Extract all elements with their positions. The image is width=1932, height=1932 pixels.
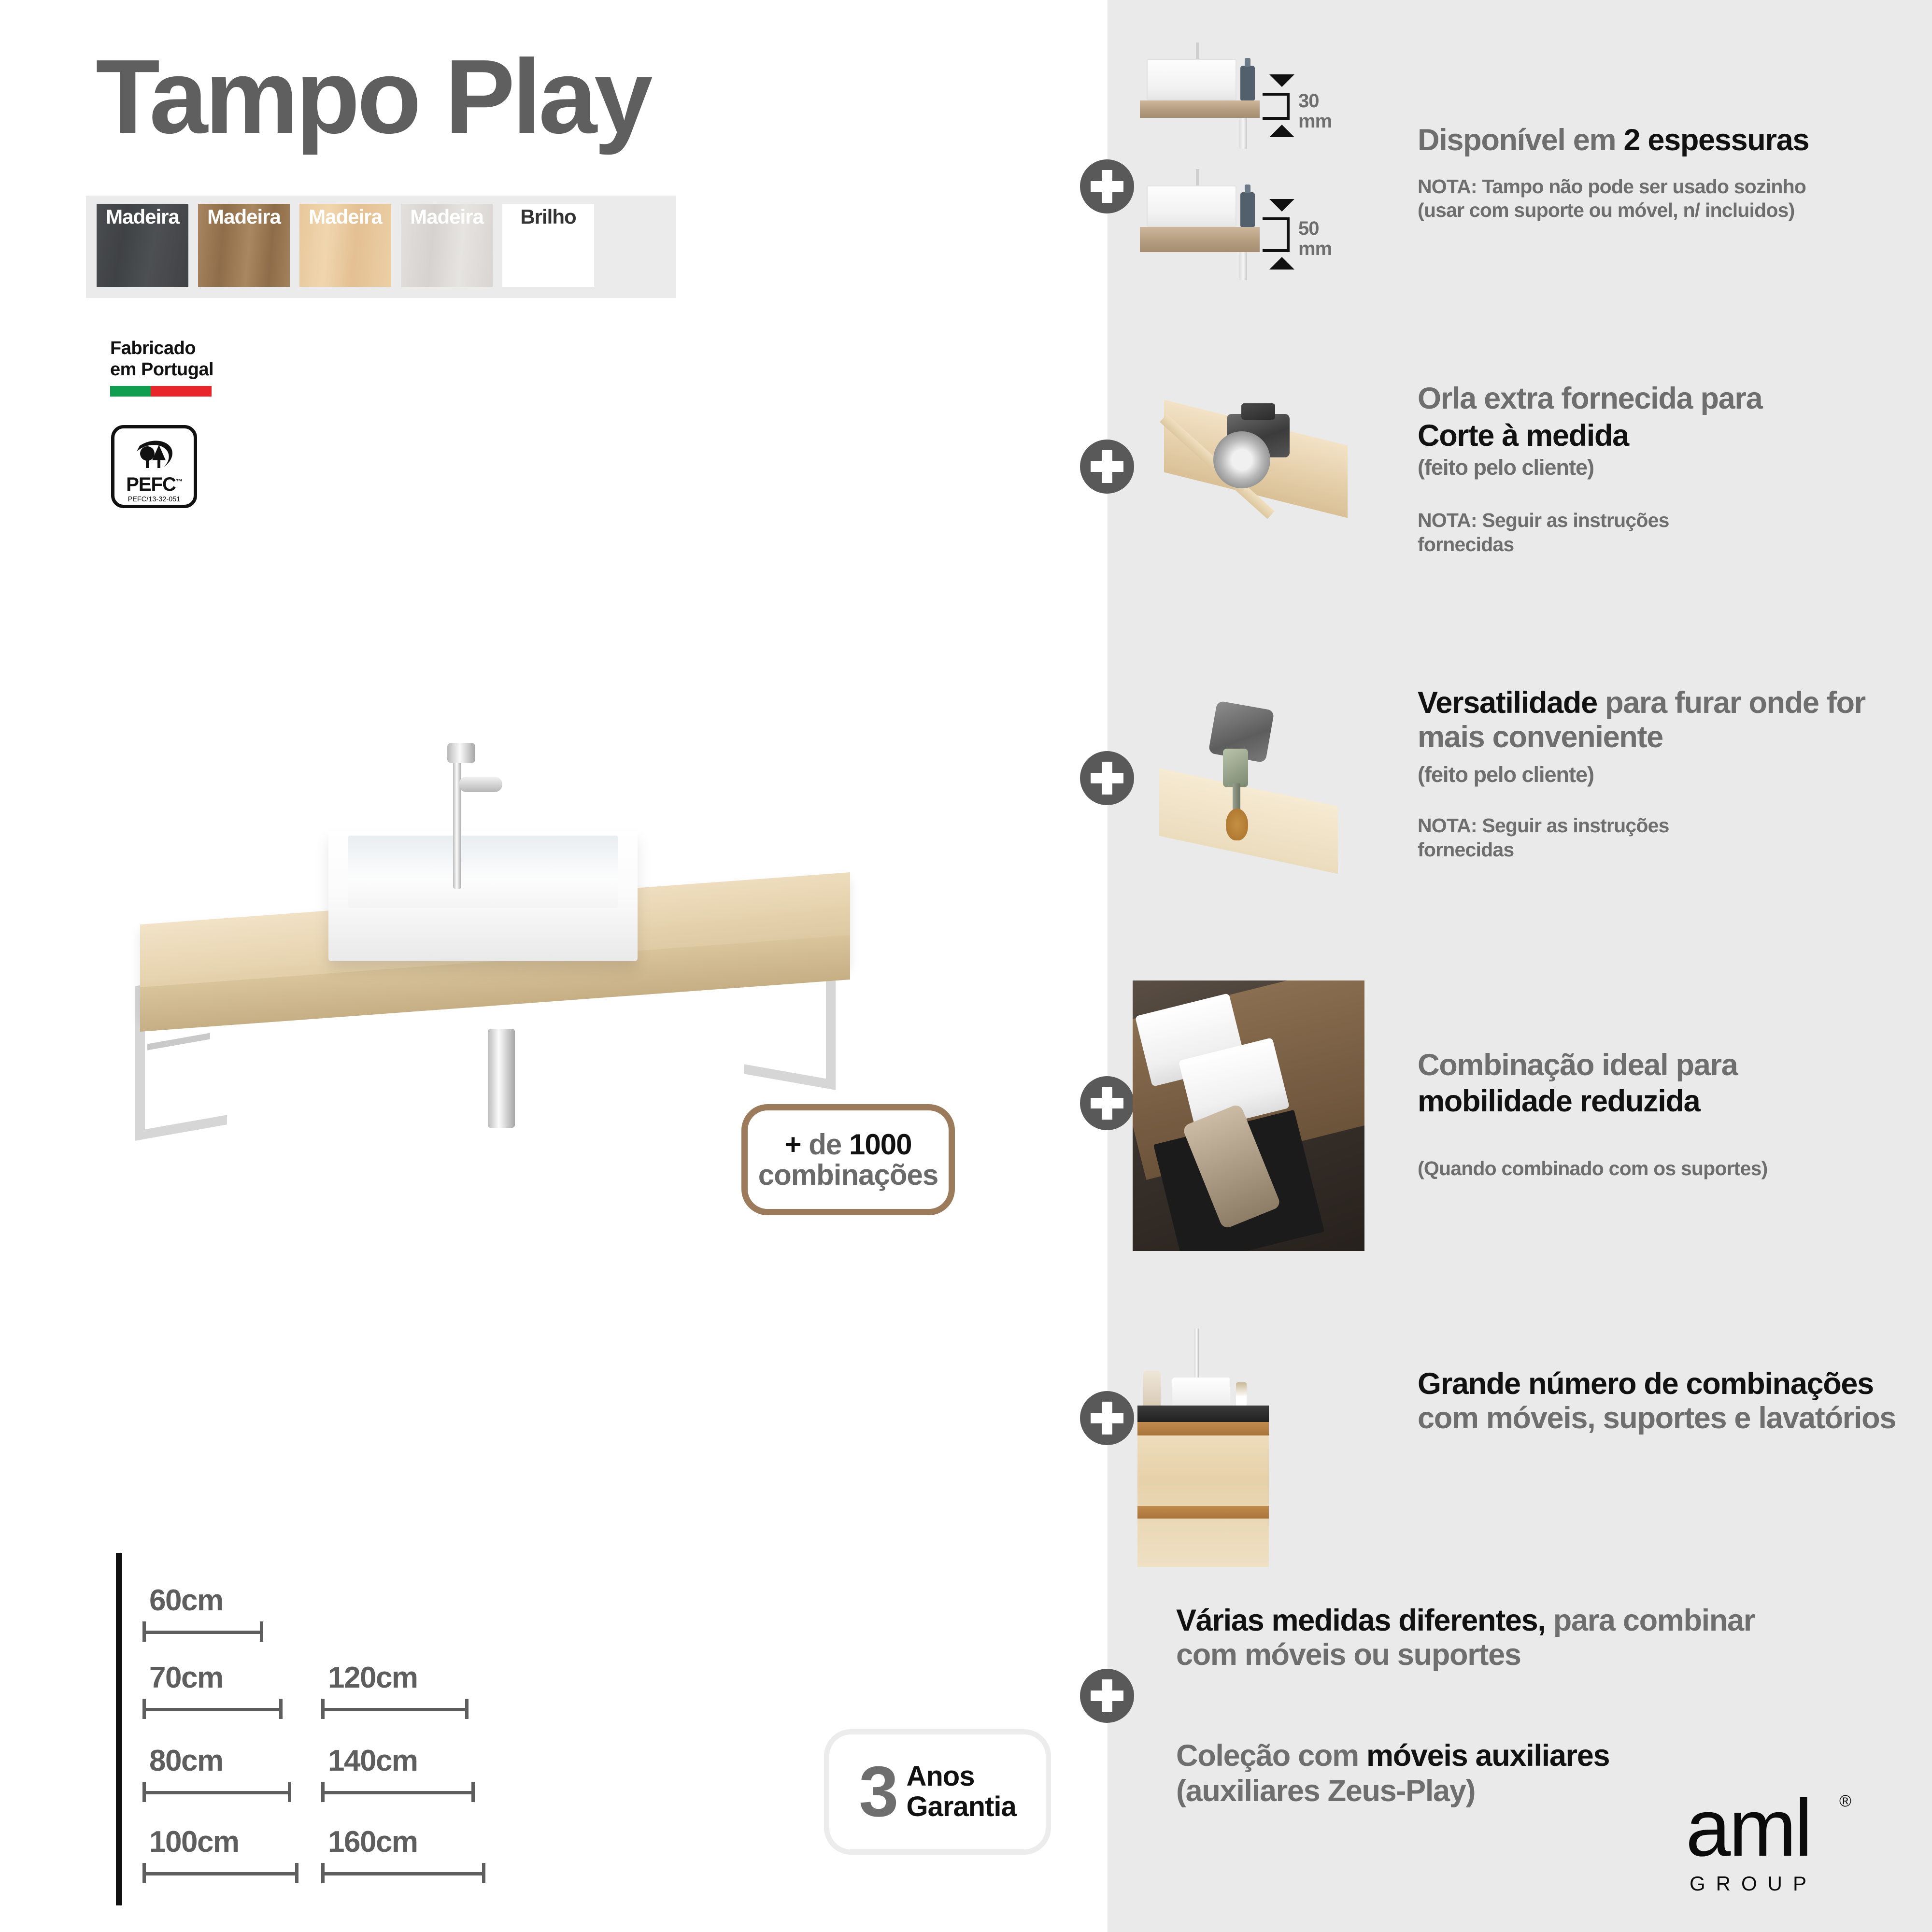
thickness-50mm-dimension: 50 mm [1263,199,1354,276]
feature-heading-bold: Grande número de combinações [1418,1367,1874,1401]
tap-spout [459,777,502,792]
dimension-bar-icon [321,1782,475,1802]
feature-thicknesses-text: Disponível em 2 espessuras NOTA: Tampo n… [1418,123,1905,222]
feature-thicknesses-image: 30 mm 50 mm [1140,39,1410,295]
feature-drilling-image [1150,691,1381,894]
dimension-bar-icon [142,1863,298,1883]
feature-cut-to-size-image [1150,384,1381,587]
plus-icon-drilling [1080,751,1134,805]
feature-combinations-text: Grande número de combinações com móveis,… [1418,1367,1915,1435]
guarantee-text: Anos Garantia [906,1762,1016,1822]
feature-heading-bold: Várias medidas diferentes, [1176,1604,1546,1637]
guarantee-line2: Garantia [906,1792,1016,1822]
thickness-30mm-illustration: 30 mm [1140,43,1299,149]
finish-swatch-light-oak[interactable]: Madeira [299,204,391,287]
finish-swatch-grey-wood[interactable]: Madeira [401,204,493,287]
dimension-label: 60cm [142,1586,263,1616]
drill-chuck [1223,749,1248,787]
pefc-tree-icon [129,433,179,476]
feature-heading: Disponível em 2 espessuras [1418,123,1905,157]
feature-heading: Várias medidas diferentes, para combinar… [1176,1604,1756,1672]
made-in-line1: Fabricado [110,338,265,359]
pefc-certification-badge: PEFC™ PEFC/13-32-051 [111,425,197,508]
arrow-down-icon [1269,74,1294,87]
portugal-flag-icon [110,386,212,397]
combinations-prefix: de [809,1128,841,1161]
dimension-label: 120cm [321,1663,469,1693]
registered-trademark-icon: ® [1839,1792,1851,1811]
dimensions-vertical-rule [116,1553,122,1905]
pefc-code: PEFC/13-32-051 [128,496,181,503]
feature-heading-bold: Corte à medida [1418,419,1629,453]
feature-reduced-mobility-image [1133,980,1364,1251]
pefc-wordmark: PEFC™ [126,475,182,494]
thickness-value: 30 [1298,92,1319,110]
feature-heading: Versatilidade para furar onde for mais c… [1418,686,1910,754]
feature-heading-plain: Coleção com [1176,1739,1366,1773]
arrow-up-icon [1269,257,1294,270]
plus-icon-thicknesses [1080,159,1134,213]
combinations-badge: + de 1000 combinações [741,1104,955,1215]
finish-swatch-medium-wood[interactable]: Madeira [198,204,290,287]
feature-heading-bold: móveis auxiliares [1366,1739,1609,1773]
pefc-trademark-icon: ™ [176,478,182,485]
thumb-basin [1147,59,1236,100]
tap-handle [447,743,475,763]
tap-column [453,749,461,889]
thumb-leg [1239,252,1247,280]
dimension-label: 140cm [321,1746,475,1776]
aml-group-logo: aml ® GROUP [1686,1787,1889,1893]
saw-blade-icon [1213,431,1270,488]
page-title: Tampo Play [96,44,650,150]
dimension-bar-icon [142,1699,283,1719]
dimension-label: 160cm [321,1827,485,1857]
feature-heading: Grande número de combinações com móveis,… [1418,1367,1915,1435]
feature-subtext: (feito pelo cliente) [1418,763,1910,787]
thickness-value: 50 [1298,219,1319,238]
finish-swatch-strip: Madeira Madeira Madeira Madeira Brilho [86,196,676,298]
feature-collection-text: Coleção com móveis auxiliares (auxiliare… [1176,1739,1756,1808]
plus-icon-combinations [1080,1391,1134,1445]
feature-note: NOTA: Seguir as instruções fornecidas [1418,814,1910,861]
bracket-icon [1263,217,1290,252]
dimension-label: 100cm [142,1827,298,1857]
dimension-60cm: 60cm [142,1586,263,1642]
feature-note: NOTA: Tampo não pode ser usado sozinho (… [1418,175,1905,222]
feature-drilling-text: Versatilidade para furar onde for mais c… [1418,686,1910,862]
plus-icon-cut-to-size [1080,440,1134,494]
thumb-leg [1239,118,1247,149]
finish-label: Madeira [410,207,483,287]
feature-heading: Orla extra fornecida para [1418,382,1905,416]
finish-label: Brilho [520,207,576,287]
finish-swatch-white-gloss[interactable]: Brilho [502,204,594,287]
feature-heading-bold-line: Corte à medida [1418,419,1905,453]
drilled-hole [1226,809,1248,840]
thumb-countertop-50mm [1140,227,1260,252]
dimension-label: 70cm [142,1663,283,1693]
dimension-120cm: 120cm [321,1663,469,1719]
feature-subtext: (feito pelo cliente) [1418,455,1905,480]
guarantee-years-number: 3 [859,1758,896,1826]
infographic-page: Tampo Play Madeira Madeira Madeira Madei… [0,0,1932,1932]
made-in-portugal-badge: Fabricado em Portugal [110,338,265,397]
dimension-80cm: 80cm [142,1746,291,1802]
combinations-plus-sign: + [785,1128,801,1161]
thumb-tap-icon [1196,43,1199,60]
thickness-unit: mm [1298,112,1332,130]
finish-swatch-dark-wood[interactable]: Madeira [97,204,188,287]
dimension-label: 80cm [142,1746,291,1776]
aml-wordmark: aml [1686,1787,1889,1868]
combinations-badge-line1: + de 1000 [785,1129,912,1160]
group-wordmark: GROUP [1686,1872,1889,1895]
furniture-black-top [1137,1406,1269,1422]
plus-icon-sizes-collection [1080,1669,1134,1723]
guarantee-line1: Anos [906,1762,1016,1792]
guarantee-badge: 3 Anos Garantia [824,1729,1051,1855]
thumb-countertop-30mm [1140,100,1260,118]
dimension-140cm: 140cm [321,1746,475,1802]
finish-label: Madeira [309,207,382,287]
thumb-soap-bottle [1240,192,1255,227]
dimension-bar-icon [142,1621,263,1642]
combinations-number: 1000 [849,1128,911,1161]
dimension-160cm: 160cm [321,1827,485,1883]
wood-panel [1159,768,1338,874]
finish-label: Madeira [106,207,179,287]
plus-icon-reduced-mobility [1080,1076,1134,1130]
furniture-stripe-bottom [1137,1506,1269,1519]
bracket-icon [1263,93,1290,120]
feature-combinations-image [1137,1323,1364,1570]
feature-heading-bold: Versatilidade [1418,686,1597,720]
thickness-50mm-illustration: 50 mm [1140,169,1299,280]
dimensions-block: 60cm 70cm 120cm 80cm 140cm [116,1553,599,1905]
dimension-70cm: 70cm [142,1663,283,1719]
made-in-line2: em Portugal [110,359,265,381]
thumb-soap-bottle [1240,66,1255,100]
thickness-30mm-dimension: 30 mm [1263,74,1354,144]
dimension-100cm: 100cm [142,1827,298,1883]
thickness-unit: mm [1298,240,1332,258]
finish-label: Madeira [207,207,281,287]
arrow-up-icon [1269,125,1294,137]
basin-inner [348,836,618,908]
feature-heading: Coleção com móveis auxiliares [1176,1739,1756,1773]
dimension-bar-icon [321,1863,485,1883]
feature-heading-plain: Disponível em [1418,123,1623,157]
feature-heading-bold: 2 espessuras [1623,123,1809,157]
feature-reduced-mobility-text: Combinação ideal para mobilidade reduzid… [1418,1048,1910,1180]
center-leg [488,1029,515,1128]
dimension-bar-icon [142,1782,291,1802]
brush-icon [1236,1382,1247,1406]
feature-heading: Combinação ideal para [1418,1048,1910,1082]
feature-sizes-text: Várias medidas diferentes, para combinar… [1176,1604,1756,1672]
saw-handle [1241,403,1275,420]
feature-subheading: (auxiliares Zeus-Play) [1176,1774,1756,1808]
furniture-body [1137,1422,1269,1567]
furniture-stripe-top [1137,1422,1269,1435]
thumb-basin [1147,185,1236,227]
feature-cut-to-size-text: Orla extra fornecida para Corte à medida… [1418,382,1905,556]
feature-heading-bold-line: mobilidade reduzida [1418,1084,1910,1119]
feature-heading-plain: com móveis, suportes e lavatórios [1418,1401,1896,1435]
arrow-down-icon [1269,199,1294,212]
combinations-badge-line2: combinações [758,1160,938,1190]
feature-note: (Quando combinado com os suportes) [1418,1157,1910,1180]
basin [1172,1378,1230,1406]
thumb-tap-icon [1196,169,1199,186]
feature-note: NOTA: Seguir as instruções fornecidas [1418,509,1905,556]
feature-heading-bold: mobilidade reduzida [1418,1084,1700,1118]
amenity-bottle [1143,1371,1161,1408]
dimension-bar-icon [321,1699,469,1719]
